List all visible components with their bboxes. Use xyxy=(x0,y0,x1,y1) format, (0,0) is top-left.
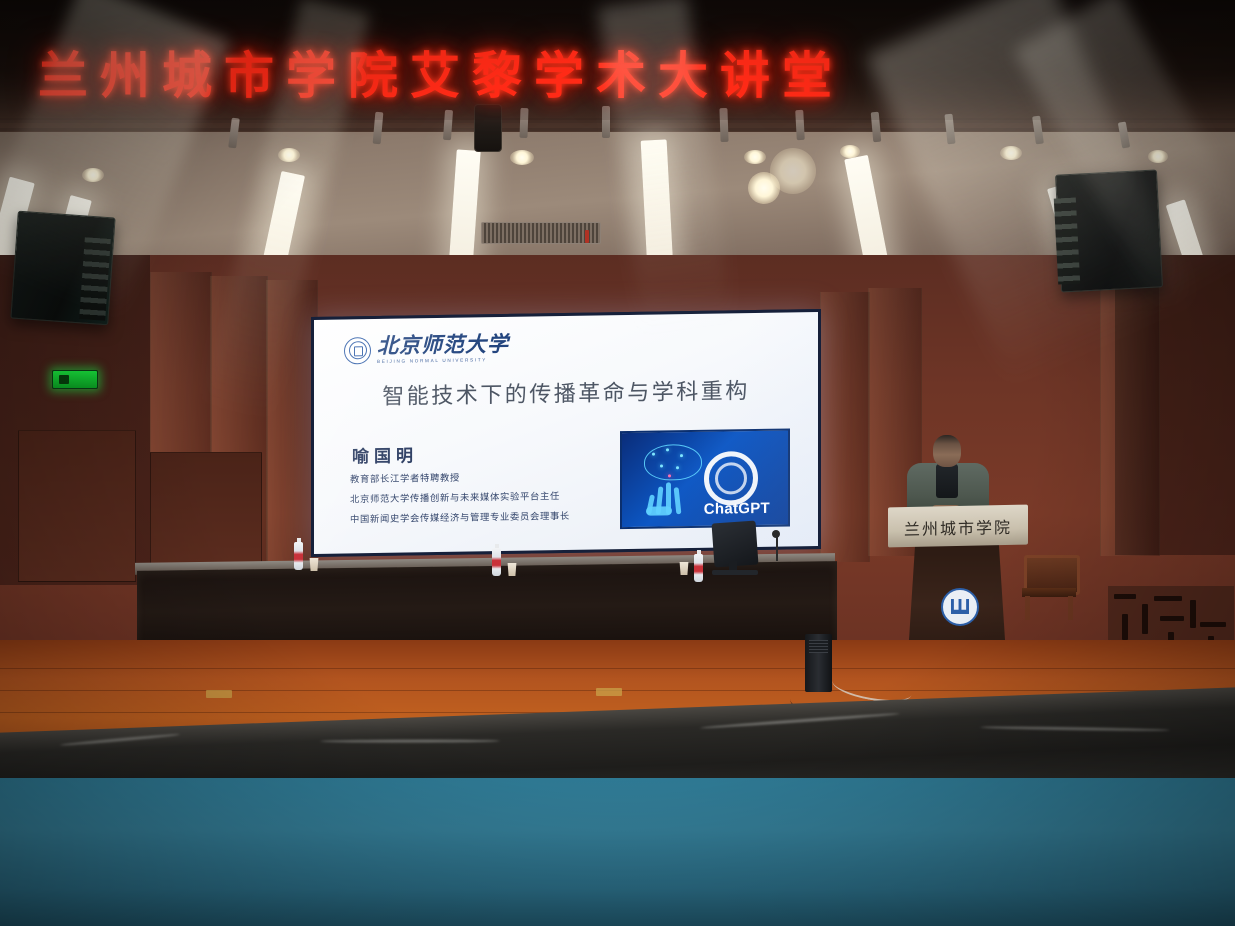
university-name-en: BEIJING NORMAL UNIVERSITY xyxy=(377,357,509,364)
chatgpt-label: ChatGPT xyxy=(704,500,770,518)
chair-leg xyxy=(1025,596,1030,620)
foreground-floor xyxy=(0,778,1235,926)
monitor-base xyxy=(712,570,758,575)
university-emblem-icon xyxy=(941,588,979,626)
speaker-person-head xyxy=(933,435,961,467)
speaker-credential: 中国新闻史学会传媒经济与管理专业委员会理事长 xyxy=(350,508,570,525)
side-door[interactable] xyxy=(18,430,136,582)
banner-title: 兰州城市学院艾黎学术大讲堂 xyxy=(38,36,958,108)
ceiling-downlight xyxy=(1000,146,1022,160)
podium-nameplate: 兰州城市学院 xyxy=(888,505,1028,548)
side-door[interactable] xyxy=(150,452,262,578)
emergency-exit-sign xyxy=(52,370,98,389)
ceiling-downlight xyxy=(744,150,766,164)
paper-cup xyxy=(309,558,319,571)
speaker-person-shirt xyxy=(936,464,958,498)
ceiling-downlight xyxy=(1148,150,1168,163)
slat xyxy=(1154,596,1182,601)
slat xyxy=(1160,616,1184,621)
water-bottle xyxy=(694,554,703,582)
hvac-vent xyxy=(481,222,601,244)
marble-vein xyxy=(60,733,180,747)
auditorium-photo: 兰州城市学院艾黎学术大讲堂 北京师范大学 BEI xyxy=(0,0,1235,926)
speaker-credential: 北京师范大学传播创新与未来媒体实验平台主任 xyxy=(350,488,560,505)
openai-logo-icon xyxy=(704,451,758,506)
ceiling-downlight xyxy=(278,148,300,162)
paper-cup xyxy=(679,562,689,575)
wall-panel xyxy=(1100,276,1160,556)
slat xyxy=(1142,604,1148,634)
university-name-cn: 北京师范大学 xyxy=(377,334,509,357)
floor-socket-plate xyxy=(596,688,622,696)
microphone-icon xyxy=(772,530,780,538)
speaker-credential: 教育部长江学者特聘教授 xyxy=(350,470,460,486)
slat xyxy=(1122,614,1128,640)
ceiling-downlight xyxy=(770,148,816,194)
projection-screen: 北京师范大学 BEIJING NORMAL UNIVERSITY 智能技术下的传… xyxy=(311,309,821,557)
podium-text: 兰州城市学院 xyxy=(888,514,1028,541)
marble-vein xyxy=(320,739,500,742)
bnu-logo: 北京师范大学 BEIJING NORMAL UNIVERSITY xyxy=(344,334,509,365)
marble-vein xyxy=(980,726,1170,732)
paper-cup xyxy=(507,563,517,576)
hand-icon xyxy=(646,480,694,517)
presentation-slide: 北京师范大学 BEIJING NORMAL UNIVERSITY 智能技术下的传… xyxy=(314,312,818,554)
ceiling-beam xyxy=(0,128,1235,131)
slat xyxy=(1200,622,1226,627)
wooden-chair[interactable] xyxy=(1022,555,1076,615)
university-seal-icon xyxy=(344,337,371,364)
ceiling-downlight xyxy=(510,150,534,165)
sprinkler-head xyxy=(585,230,589,243)
wall-panel xyxy=(820,292,870,562)
slide-title: 智能技术下的传播革命与学科重构 xyxy=(314,372,818,412)
pc-tower xyxy=(805,634,832,692)
ai-brain-icon xyxy=(644,444,702,481)
ceiling-downlight xyxy=(82,168,104,182)
slat xyxy=(1114,594,1136,599)
floor-plank-line xyxy=(0,668,1235,669)
water-bottle xyxy=(294,542,303,570)
marble-vein xyxy=(700,712,900,729)
ceiling-downlight xyxy=(840,145,860,158)
chatgpt-illustration: ChatGPT xyxy=(620,428,790,529)
floor-socket-plate xyxy=(206,690,232,698)
chair-leg xyxy=(1068,596,1073,620)
speaker-name: 喻国明 xyxy=(352,441,418,467)
speaker-horn-grille-right xyxy=(1054,197,1080,284)
slat xyxy=(1190,600,1196,628)
water-bottle xyxy=(492,548,501,576)
microphone-stem xyxy=(776,535,778,561)
